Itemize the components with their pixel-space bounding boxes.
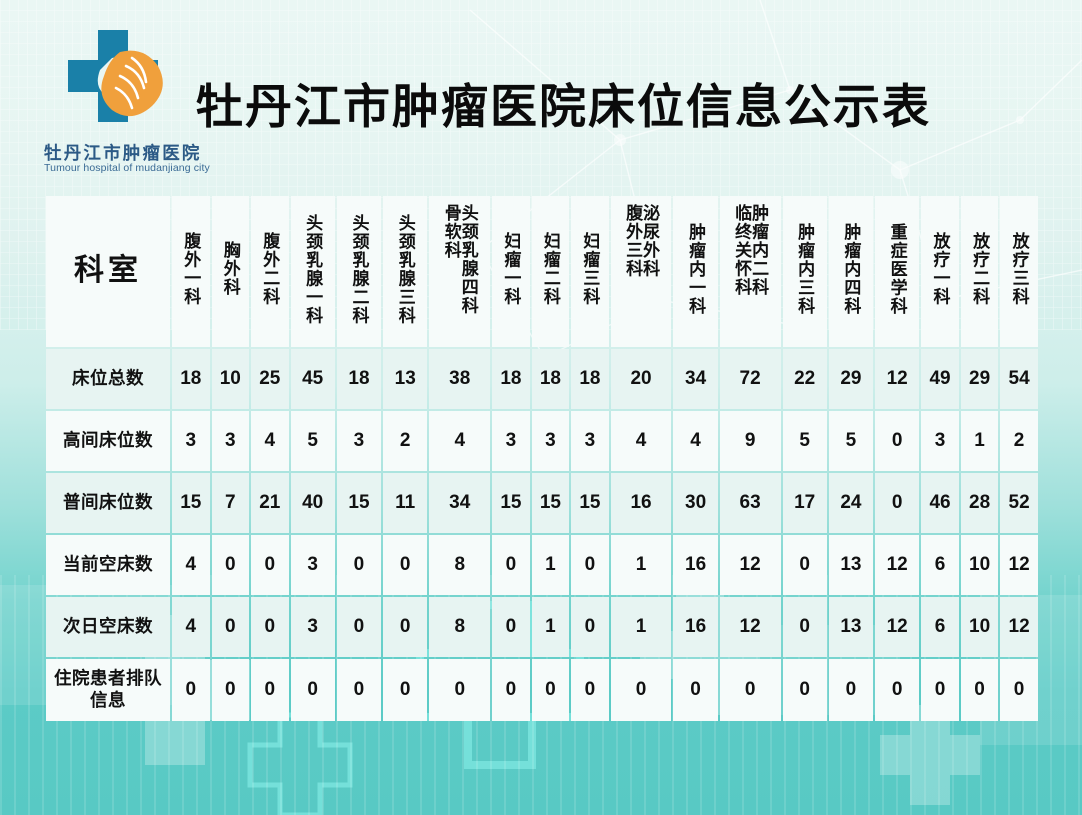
column-header-label: 骨软科	[443, 204, 460, 260]
table-cell: 12	[875, 349, 919, 409]
bed-information-table-wrapper: 科室 腹外一科胸外科腹外二科头颈乳腺一科头颈乳腺二科头颈乳腺三科头颈乳腺四科骨软…	[44, 194, 1038, 723]
table-cell: 12	[875, 597, 919, 657]
table-cell: 0	[532, 659, 570, 721]
column-header-label: 放疗二科	[971, 202, 988, 336]
table-cell: 4	[251, 411, 289, 471]
table-cell: 0	[720, 659, 781, 721]
column-header-label: 妇瘤二科	[542, 202, 559, 336]
table-cell: 18	[532, 349, 570, 409]
table-cell: 0	[571, 597, 609, 657]
table-cell: 0	[212, 535, 250, 595]
column-header-label: 放疗三科	[1011, 202, 1028, 336]
column-header-1: 腹外一科	[172, 196, 210, 347]
table-cell: 8	[429, 597, 490, 657]
column-header-5: 头颈乳腺二科	[337, 196, 381, 347]
column-header-19: 放疗三科	[1000, 196, 1038, 347]
table-cell: 0	[383, 659, 427, 721]
table-cell: 8	[429, 535, 490, 595]
column-header-11: 泌尿外科腹外三科	[611, 196, 672, 347]
table-cell: 0	[212, 659, 250, 721]
table-cell: 0	[921, 659, 959, 721]
column-header-8: 妇瘤一科	[492, 196, 530, 347]
table-cell: 12	[875, 535, 919, 595]
column-header-label: 妇瘤三科	[581, 202, 598, 336]
table-cell: 3	[921, 411, 959, 471]
table-cell: 3	[291, 535, 335, 595]
table-cell: 13	[383, 349, 427, 409]
table-cell: 0	[875, 473, 919, 533]
table-cell: 21	[251, 473, 289, 533]
table-head: 科室 腹外一科胸外科腹外二科头颈乳腺一科头颈乳腺二科头颈乳腺三科头颈乳腺四科骨软…	[46, 196, 1038, 347]
table-cell: 0	[492, 597, 530, 657]
table-cell: 11	[383, 473, 427, 533]
row-label: 住院患者排队信息	[46, 659, 170, 721]
table-cell: 3	[532, 411, 570, 471]
table-cell: 2	[1000, 411, 1038, 471]
table-cell: 22	[783, 349, 827, 409]
table-cell: 3	[212, 411, 250, 471]
table-cell: 1	[611, 535, 672, 595]
column-header-label: 肿瘤内一科	[687, 202, 704, 336]
table-cell: 0	[337, 535, 381, 595]
table-cell: 1	[961, 411, 999, 471]
row-label: 高间床位数	[46, 411, 170, 471]
column-header-label: 泌尿外科	[641, 204, 658, 278]
table-cell: 20	[611, 349, 672, 409]
table-cell: 0	[337, 659, 381, 721]
table-cell: 34	[673, 349, 717, 409]
table-cell: 4	[172, 597, 210, 657]
table-cell: 4	[429, 411, 490, 471]
table-cell: 13	[829, 597, 873, 657]
column-header-label: 腹外二科	[261, 202, 278, 336]
table-cell: 17	[783, 473, 827, 533]
column-header-label: 头颈乳腺一科	[304, 202, 321, 336]
table-cell: 13	[829, 535, 873, 595]
table-cell: 5	[291, 411, 335, 471]
table-cell: 63	[720, 473, 781, 533]
table-cell: 18	[492, 349, 530, 409]
table-cell: 29	[961, 349, 999, 409]
table-cell: 9	[720, 411, 781, 471]
column-header-label: 临终关怀科	[733, 204, 750, 297]
column-header-label: 肿瘤内四科	[842, 202, 859, 336]
table-cell: 0	[212, 597, 250, 657]
table-row: 高间床位数3345324333449550312	[46, 411, 1038, 471]
column-header-stack: 肿瘤内二科临终关怀科	[720, 204, 781, 338]
table-cell: 40	[291, 473, 335, 533]
table-cell: 18	[337, 349, 381, 409]
table-row: 住院患者排队信息0000000000000000000	[46, 659, 1038, 721]
row-label: 床位总数	[46, 349, 170, 409]
column-header-label: 头颈乳腺三科	[397, 202, 414, 336]
table-cell: 0	[383, 597, 427, 657]
table-cell: 0	[172, 659, 210, 721]
table-cell: 15	[571, 473, 609, 533]
column-header-label: 放疗一科	[932, 202, 949, 336]
table-cell: 0	[337, 597, 381, 657]
column-header-6: 头颈乳腺三科	[383, 196, 427, 347]
column-header-label: 头颈乳腺四科	[460, 204, 477, 315]
table-cell: 0	[492, 659, 530, 721]
row-label: 普间床位数	[46, 473, 170, 533]
column-header-label: 肿瘤内三科	[796, 202, 813, 336]
table-cell: 46	[921, 473, 959, 533]
table-cell: 54	[1000, 349, 1038, 409]
table-cell: 3	[291, 597, 335, 657]
table-cell: 0	[571, 535, 609, 595]
table-cell: 6	[921, 535, 959, 595]
row-label: 当前空床数	[46, 535, 170, 595]
column-header-9: 妇瘤二科	[532, 196, 570, 347]
table-cell: 12	[1000, 535, 1038, 595]
table-cell: 10	[961, 597, 999, 657]
table-cell: 12	[1000, 597, 1038, 657]
table-cell: 7	[212, 473, 250, 533]
column-header-stack: 头颈乳腺四科骨软科	[429, 204, 490, 338]
row-label: 次日空床数	[46, 597, 170, 657]
table-cell: 0	[383, 535, 427, 595]
column-header-3: 腹外二科	[251, 196, 289, 347]
table-cell: 1	[532, 597, 570, 657]
column-header-7: 头颈乳腺四科骨软科	[429, 196, 490, 347]
table-cell: 15	[532, 473, 570, 533]
bed-information-table: 科室 腹外一科胸外科腹外二科头颈乳腺一科头颈乳腺二科头颈乳腺三科头颈乳腺四科骨软…	[44, 194, 1040, 723]
column-header-label: 头颈乳腺二科	[350, 202, 367, 336]
table-cell: 0	[829, 659, 873, 721]
column-header-label: 腹外一科	[182, 202, 199, 336]
table-cell: 5	[829, 411, 873, 471]
table-cell: 5	[783, 411, 827, 471]
column-header-14: 肿瘤内三科	[783, 196, 827, 347]
table-cell: 52	[1000, 473, 1038, 533]
table-cell: 10	[212, 349, 250, 409]
table-cell: 0	[291, 659, 335, 721]
table-cell: 18	[571, 349, 609, 409]
table-cell: 0	[251, 597, 289, 657]
column-header-label: 肿瘤内二科	[750, 204, 767, 297]
logo-english-name: Tumour hospital of mudanjiang city	[44, 162, 210, 174]
table-cell: 3	[337, 411, 381, 471]
column-header-17: 放疗一科	[921, 196, 959, 347]
table-cell: 2	[383, 411, 427, 471]
column-header-label: 胸外科	[222, 202, 239, 336]
column-header-2: 胸外科	[212, 196, 250, 347]
table-cell: 49	[921, 349, 959, 409]
table-cell: 12	[720, 597, 781, 657]
column-header-label: 妇瘤一科	[502, 202, 519, 336]
column-header-18: 放疗二科	[961, 196, 999, 347]
table-cell: 0	[429, 659, 490, 721]
table-cell: 15	[172, 473, 210, 533]
page-header: 牡丹江市肿瘤医院 Tumour hospital of mudanjiang c…	[0, 0, 1082, 190]
column-header-4: 头颈乳腺一科	[291, 196, 335, 347]
column-header-label: 重症医学科	[889, 202, 906, 336]
table-cell: 0	[961, 659, 999, 721]
table-cell: 24	[829, 473, 873, 533]
table-cell: 16	[673, 597, 717, 657]
table-cell: 28	[961, 473, 999, 533]
table-cell: 34	[429, 473, 490, 533]
table-cell: 15	[337, 473, 381, 533]
column-header-16: 重症医学科	[875, 196, 919, 347]
table-cell: 0	[571, 659, 609, 721]
table-header-row: 科室 腹外一科胸外科腹外二科头颈乳腺一科头颈乳腺二科头颈乳腺三科头颈乳腺四科骨软…	[46, 196, 1038, 347]
table-cell: 3	[172, 411, 210, 471]
table-cell: 0	[1000, 659, 1038, 721]
table-cell: 10	[961, 535, 999, 595]
table-cell: 29	[829, 349, 873, 409]
table-cell: 38	[429, 349, 490, 409]
table-cell: 0	[492, 535, 530, 595]
table-cell: 15	[492, 473, 530, 533]
table-cell: 0	[251, 535, 289, 595]
table-cell: 4	[172, 535, 210, 595]
table-cell: 4	[673, 411, 717, 471]
table-cell: 0	[875, 411, 919, 471]
table-row: 普间床位数15721401511341515151630631724046285…	[46, 473, 1038, 533]
table-row: 次日空床数4003008010116120131261012	[46, 597, 1038, 657]
table-cell: 12	[720, 535, 781, 595]
table-corner-label: 科室	[46, 196, 170, 347]
table-cell: 6	[921, 597, 959, 657]
table-cell: 1	[611, 597, 672, 657]
table-cell: 72	[720, 349, 781, 409]
column-header-10: 妇瘤三科	[571, 196, 609, 347]
column-header-stack: 泌尿外科腹外三科	[611, 204, 672, 338]
table-cell: 3	[571, 411, 609, 471]
column-header-13: 肿瘤内二科临终关怀科	[720, 196, 781, 347]
table-cell: 0	[875, 659, 919, 721]
table-cell: 4	[611, 411, 672, 471]
table-cell: 3	[492, 411, 530, 471]
table-row: 当前空床数4003008010116120131261012	[46, 535, 1038, 595]
table-cell: 0	[783, 659, 827, 721]
page-title: 牡丹江市肿瘤医院床位信息公示表	[196, 68, 931, 137]
table-cell: 0	[251, 659, 289, 721]
table-cell: 1	[532, 535, 570, 595]
table-row: 床位总数181025451813381818182034722229124929…	[46, 349, 1038, 409]
table-cell: 25	[251, 349, 289, 409]
table-cell: 45	[291, 349, 335, 409]
table-body: 床位总数181025451813381818182034722229124929…	[46, 349, 1038, 721]
column-header-12: 肿瘤内一科	[673, 196, 717, 347]
medical-cross-with-flower-logo-icon	[60, 28, 190, 136]
column-header-15: 肿瘤内四科	[829, 196, 873, 347]
table-cell: 16	[673, 535, 717, 595]
table-cell: 16	[611, 473, 672, 533]
table-cell: 0	[673, 659, 717, 721]
table-cell: 0	[611, 659, 672, 721]
table-cell: 0	[783, 597, 827, 657]
table-cell: 30	[673, 473, 717, 533]
table-cell: 0	[783, 535, 827, 595]
table-cell: 18	[172, 349, 210, 409]
column-header-label: 腹外三科	[624, 204, 641, 278]
